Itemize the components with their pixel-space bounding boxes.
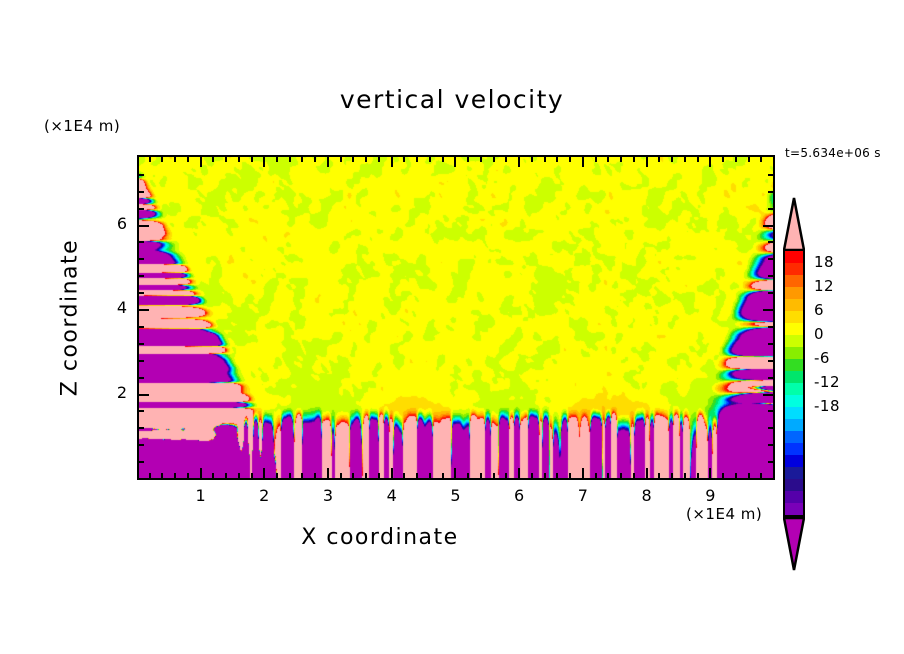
axis-tick: [633, 157, 635, 162]
axis-tick: [709, 157, 711, 167]
axis-tick: [763, 394, 773, 396]
axis-tick: [327, 468, 329, 478]
axis-tick: [251, 157, 253, 162]
axis-tick: [200, 157, 202, 167]
axis-tick: [620, 157, 622, 162]
axis-tick: [225, 473, 227, 478]
axis-tick: [454, 157, 456, 167]
axis-tick: [697, 157, 699, 162]
axis-tick: [174, 473, 176, 478]
axis-tick: [139, 258, 144, 260]
axis-tick: [200, 468, 202, 478]
axis-tick: [768, 444, 773, 446]
axis-tick: [365, 473, 367, 478]
axis-tick: [768, 275, 773, 277]
x-tick-label: 6: [504, 486, 534, 505]
axis-tick: [768, 377, 773, 379]
axis-tick: [531, 473, 533, 478]
axis-tick: [556, 473, 558, 478]
axis-tick: [768, 174, 773, 176]
axis-tick: [671, 157, 673, 162]
page-title: vertical velocity: [0, 85, 904, 114]
axis-tick: [442, 473, 444, 478]
axis-tick: [735, 157, 737, 162]
axis-tick: [768, 292, 773, 294]
axis-tick: [289, 473, 291, 478]
axis-tick: [391, 157, 393, 167]
axis-tick: [768, 258, 773, 260]
axis-tick: [722, 157, 724, 162]
axis-tick: [442, 157, 444, 162]
axis-tick: [139, 208, 144, 210]
axis-tick: [684, 473, 686, 478]
axis-tick: [467, 473, 469, 478]
axis-tick: [251, 473, 253, 478]
axis-tick: [212, 473, 214, 478]
axis-tick: [174, 157, 176, 162]
colorbar-band: [785, 335, 803, 347]
colorbar-band: [785, 431, 803, 443]
axis-tick: [403, 157, 405, 162]
axis-tick: [139, 275, 144, 277]
axis-tick: [556, 157, 558, 162]
axis-tick: [768, 427, 773, 429]
axis-tick: [595, 473, 597, 478]
axis-tick: [187, 473, 189, 478]
x-tick-label: 9: [695, 486, 725, 505]
axis-tick: [238, 157, 240, 162]
colorbar-tick-label: 18: [814, 253, 834, 271]
axis-tick: [773, 468, 775, 478]
colorbar-band: [785, 371, 803, 383]
axis-tick: [671, 473, 673, 478]
axis-tick: [569, 157, 571, 162]
axis-tick: [352, 473, 354, 478]
x-tick-label: 3: [313, 486, 343, 505]
axis-tick: [709, 468, 711, 478]
axis-tick: [544, 157, 546, 162]
axis-tick: [416, 473, 418, 478]
colorbar-band: [785, 263, 803, 275]
axis-tick: [658, 473, 660, 478]
axis-tick: [518, 157, 520, 167]
y-tick-label: 6: [97, 214, 127, 233]
colorbar-tick-label: -6: [814, 349, 830, 367]
axis-tick: [646, 157, 648, 167]
y-axis-title: Z coordinate: [58, 188, 83, 448]
x-axis-title: X coordinate: [0, 525, 760, 550]
axis-tick: [582, 468, 584, 478]
colorbar-band: [785, 419, 803, 431]
timestamp-annotation: t=5.634e+06 s: [785, 146, 881, 160]
axis-tick: [139, 326, 144, 328]
y-axis-unit-label: (×1E4 m): [44, 117, 120, 135]
axis-tick: [763, 309, 773, 311]
axis-tick: [378, 473, 380, 478]
colorbar-under-arrow-icon: [783, 517, 805, 572]
axis-tick: [139, 461, 144, 463]
colorbar-band: [785, 479, 803, 491]
x-tick-label: 5: [440, 486, 470, 505]
axis-tick: [760, 473, 762, 478]
axis-tick: [212, 157, 214, 162]
axis-tick: [139, 410, 144, 412]
y-tick-label: 2: [97, 383, 127, 402]
axis-tick: [139, 174, 144, 176]
axis-tick: [505, 157, 507, 162]
axis-tick: [531, 157, 533, 162]
axis-tick: [378, 157, 380, 162]
axis-tick: [763, 225, 773, 227]
colorbar-band: [785, 251, 803, 263]
colorbar-tick-label: -12: [814, 373, 840, 391]
axis-tick: [658, 157, 660, 162]
axis-tick: [263, 468, 265, 478]
x-axis-unit-label: (×1E4 m): [686, 505, 762, 523]
axis-tick: [314, 157, 316, 162]
axis-tick: [607, 157, 609, 162]
colorbar-tick-label: 6: [814, 301, 824, 319]
axis-tick: [768, 410, 773, 412]
axis-tick: [301, 157, 303, 162]
axis-tick: [748, 157, 750, 162]
colorbar-tick-label: 0: [814, 325, 824, 343]
axis-tick: [139, 360, 144, 362]
axis-tick: [748, 473, 750, 478]
axis-tick: [480, 157, 482, 162]
colorbar-bands: [783, 249, 805, 517]
axis-tick: [139, 309, 149, 311]
axis-tick: [760, 157, 762, 162]
axis-tick: [301, 473, 303, 478]
axis-tick: [480, 473, 482, 478]
axis-tick: [768, 360, 773, 362]
axis-tick: [139, 394, 149, 396]
colorbar-band: [785, 467, 803, 479]
axis-tick: [646, 468, 648, 478]
axis-tick: [493, 473, 495, 478]
axis-tick: [391, 468, 393, 478]
axis-tick: [276, 157, 278, 162]
x-tick-label: 7: [568, 486, 598, 505]
axis-tick: [620, 473, 622, 478]
axis-tick: [139, 444, 144, 446]
axis-tick: [505, 473, 507, 478]
x-tick-label: 4: [377, 486, 407, 505]
axis-tick: [595, 157, 597, 162]
axis-tick: [582, 157, 584, 167]
contour-plot-area: [137, 155, 775, 480]
axis-tick: [493, 157, 495, 162]
axis-tick: [454, 468, 456, 478]
axis-tick: [633, 473, 635, 478]
axis-tick: [569, 473, 571, 478]
axis-tick: [768, 326, 773, 328]
axis-tick: [518, 468, 520, 478]
colorbar-band: [785, 503, 803, 515]
axis-tick: [735, 473, 737, 478]
axis-tick: [768, 208, 773, 210]
axis-tick: [139, 377, 144, 379]
axis-tick: [722, 473, 724, 478]
axis-tick: [352, 157, 354, 162]
axis-tick: [314, 473, 316, 478]
colorbar-band: [785, 407, 803, 419]
axis-tick: [365, 157, 367, 162]
axis-tick: [149, 157, 151, 162]
colorbar-band: [785, 299, 803, 311]
axis-tick: [327, 157, 329, 167]
colorbar-band: [785, 287, 803, 299]
axis-tick: [263, 157, 265, 167]
axis-tick: [768, 191, 773, 193]
y-tick-label: 4: [97, 298, 127, 317]
axis-tick: [139, 241, 144, 243]
x-tick-label: 2: [249, 486, 279, 505]
colorbar-band: [785, 395, 803, 407]
axis-tick: [544, 473, 546, 478]
colorbar: 181260-6-12-18: [778, 196, 898, 518]
colorbar-over-arrow-icon: [783, 196, 805, 251]
x-tick-label: 1: [186, 486, 216, 505]
colorbar-band: [785, 275, 803, 287]
axis-tick: [149, 473, 151, 478]
colorbar-band: [785, 347, 803, 359]
axis-tick: [768, 461, 773, 463]
axis-tick: [340, 157, 342, 162]
axis-tick: [697, 473, 699, 478]
axis-tick: [429, 473, 431, 478]
axis-tick: [289, 157, 291, 162]
axis-tick: [139, 427, 144, 429]
axis-tick: [403, 473, 405, 478]
colorbar-tick-label: 12: [814, 277, 834, 295]
axis-tick: [768, 343, 773, 345]
axis-tick: [225, 157, 227, 162]
axis-tick: [139, 191, 144, 193]
colorbar-band: [785, 359, 803, 371]
colorbar-band: [785, 323, 803, 335]
axis-tick: [139, 225, 149, 227]
axis-tick: [161, 473, 163, 478]
axis-tick: [429, 157, 431, 162]
axis-tick: [276, 473, 278, 478]
colorbar-band: [785, 455, 803, 467]
axis-tick: [340, 473, 342, 478]
axis-tick: [773, 157, 775, 167]
axis-tick: [139, 343, 144, 345]
axis-tick: [161, 157, 163, 162]
axis-tick: [139, 292, 144, 294]
colorbar-band: [785, 443, 803, 455]
colorbar-tick-label: -18: [814, 397, 840, 415]
axis-tick: [607, 473, 609, 478]
axis-tick: [238, 473, 240, 478]
colorbar-band: [785, 491, 803, 503]
axis-tick: [467, 157, 469, 162]
axis-tick: [416, 157, 418, 162]
vertical-velocity-field: [139, 157, 773, 478]
axis-tick: [684, 157, 686, 162]
x-tick-label: 8: [632, 486, 662, 505]
colorbar-band: [785, 383, 803, 395]
axis-tick: [768, 241, 773, 243]
axis-tick: [187, 157, 189, 162]
colorbar-band: [785, 311, 803, 323]
